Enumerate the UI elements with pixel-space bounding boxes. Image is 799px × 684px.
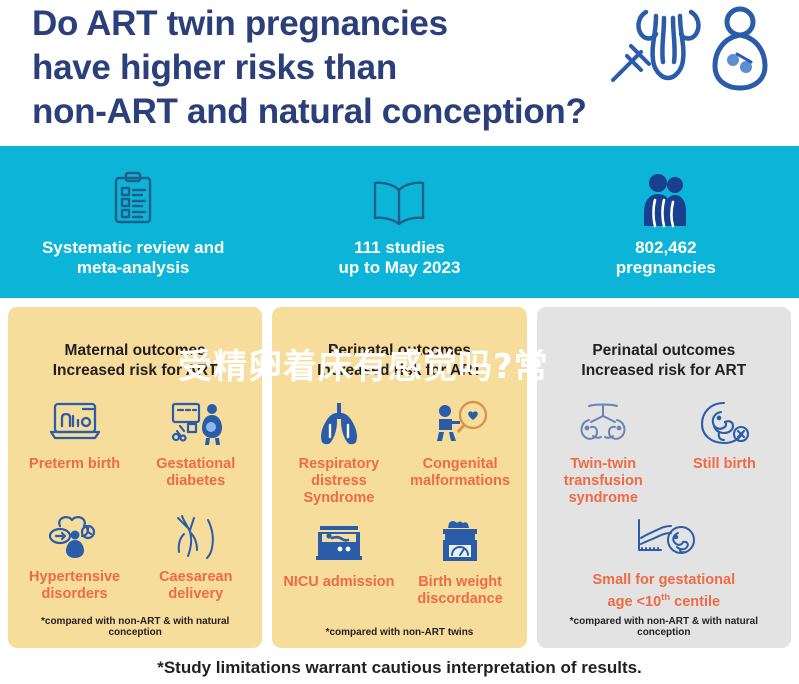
footer-band: *Study limitations warrant cautious inte… (0, 652, 799, 684)
panel-heading: Perinatal outcomes Increased risk for AR… (278, 341, 520, 381)
outcome-label: Hypertensive disorders (29, 569, 120, 603)
panel-row: Respiratory distress Syndrome (278, 391, 520, 509)
outcome-label: Twin-twin transfusion syndrome (564, 456, 643, 507)
pregnant-woman-twins-icon (715, 9, 765, 88)
stat-label: 802,462 pregnancies (616, 238, 716, 278)
page-title-line-3: non-ART and natural conception? (32, 90, 612, 134)
outcome-label: Gestational diabetes (156, 456, 235, 490)
lungs-icon (312, 395, 366, 451)
panel-footnote: *compared with non-ART & with natural co… (543, 616, 785, 642)
outcome-small-for-gestational-age: Small for gestational age <10th centile (543, 507, 785, 616)
stat-studies-count: 111 studies up to May 2023 (266, 166, 532, 278)
panel-heading: Perinatal outcomes Increased risk for AR… (543, 341, 785, 381)
baby-magnifier-heart-icon (431, 395, 489, 451)
outcome-label: Still birth (693, 456, 756, 473)
stat-label: 111 studies up to May 2023 (339, 238, 461, 278)
panel-item-grid: Preterm birth (14, 391, 256, 616)
panel-row: Preterm birth (14, 391, 256, 504)
outcome-gestational-diabetes: Gestational diabetes (135, 391, 256, 504)
clipboard-checklist-icon (110, 166, 156, 228)
header-icon-group (601, 4, 781, 94)
outcome-label: Preterm birth (29, 456, 120, 473)
panel-heading: Maternal outcomes Increased risk for ART (14, 341, 256, 381)
panel-footnote: *compared with non-ART twins (278, 627, 520, 642)
stats-band: Systematic review and meta-analysis 111 … (0, 146, 799, 298)
syringe-icon (613, 46, 649, 80)
panel-maternal-outcomes: Maternal outcomes Increased risk for ART (8, 307, 262, 648)
panel-row: NICU admission (278, 509, 520, 627)
gestational-diabetes-glucose-icon (168, 395, 224, 451)
stat-pregnancies-count: 802,462 pregnancies (533, 166, 799, 278)
outcome-birth-weight-discordance: Birth weight discordance (400, 509, 521, 627)
outcome-congenital-malformations: Congenital malformations (400, 391, 521, 509)
twin-twin-transfusion-icon (573, 395, 633, 451)
outcome-label: Caesarean delivery (159, 569, 232, 603)
outcome-hypertensive-disorders: Hypertensive disorders (14, 504, 135, 617)
outcome-still-birth: Still birth (664, 391, 785, 507)
stillbirth-fetus-cross-icon (697, 395, 751, 451)
sga-label-suffix: centile (670, 594, 720, 610)
page-title: Do ART twin pregnancies have higher risk… (32, 2, 612, 134)
panel-perinatal-outcomes-natural: Perinatal outcomes Increased risk for AR… (537, 307, 791, 648)
panel-item-grid: Respiratory distress Syndrome (278, 391, 520, 627)
outcome-preterm-birth: Preterm birth (14, 391, 135, 504)
panel-row: Small for gestational age <10th centile (543, 507, 785, 616)
header-band: Do ART twin pregnancies have higher risk… (0, 0, 799, 146)
two-people-icon (640, 166, 692, 228)
outcome-label: NICU admission (283, 574, 394, 591)
panel-item-grid: Twin-twin transfusion syndrome (543, 391, 785, 616)
hypertensive-bp-cuff-icon (46, 508, 104, 564)
open-book-icon (370, 166, 428, 228)
caesarean-delivery-icon (170, 508, 222, 564)
baby-weight-scale-icon (433, 513, 487, 569)
panel-row: Hypertensive disorders Caesarean (14, 504, 256, 617)
panel-perinatal-outcomes-twins: Perinatal outcomes Increased risk for AR… (272, 307, 526, 648)
outcome-label: Birth weight discordance (417, 574, 502, 608)
nicu-incubator-icon (310, 513, 368, 569)
stat-label: Systematic review and meta-analysis (42, 238, 224, 278)
stat-systematic-review: Systematic review and meta-analysis (0, 166, 266, 278)
page-title-line-1: Do ART twin pregnancies (32, 2, 612, 46)
uterus-syringe-ivf-icon (639, 12, 699, 78)
page-title-line-2: have higher risks than (32, 46, 612, 90)
sga-label-superscript: th (661, 592, 670, 603)
outcome-caesarean-delivery: Caesarean delivery (135, 504, 256, 617)
outcome-label: Small for gestational age <10th centile (593, 572, 736, 611)
footer-disclaimer: *Study limitations warrant cautious inte… (157, 658, 642, 678)
preterm-birth-monitor-icon (47, 395, 103, 451)
outcome-twin-twin-transfusion-syndrome: Twin-twin transfusion syndrome (543, 391, 664, 507)
outcome-label: Congenital malformations (410, 456, 510, 490)
header-icons-svg (601, 4, 781, 94)
outcome-nicu-admission: NICU admission (278, 509, 399, 627)
panel-footnote: *compared with non-ART & with natural co… (14, 616, 256, 642)
outcome-respiratory-distress-syndrome: Respiratory distress Syndrome (278, 391, 399, 509)
outcome-label: Respiratory distress Syndrome (278, 456, 399, 507)
growth-chart-fetus-icon (625, 511, 703, 567)
outcome-panels: Maternal outcomes Increased risk for ART (0, 307, 799, 648)
panel-row: Twin-twin transfusion syndrome (543, 391, 785, 507)
